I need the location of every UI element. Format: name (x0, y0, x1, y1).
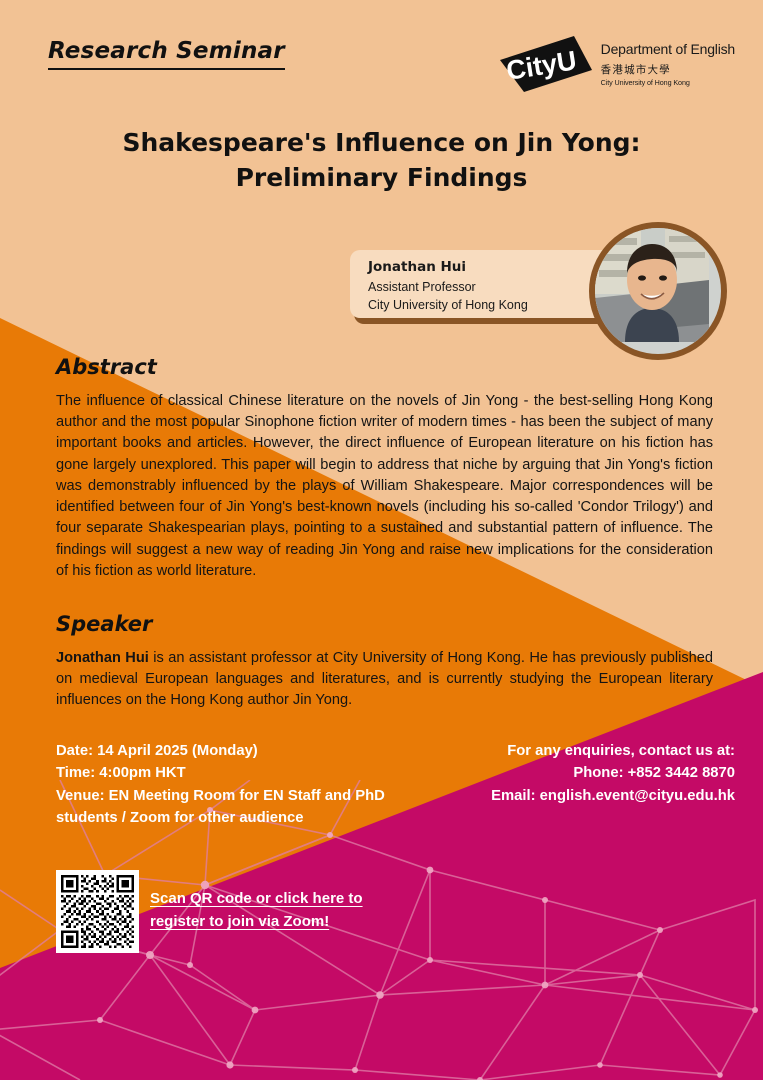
event-time: Time: 4:00pm HKT (56, 762, 386, 784)
speaker-heading: Speaker (56, 612, 152, 636)
title-line-2: Preliminary Findings (50, 161, 713, 196)
speaker-bio-name: Jonathan Hui (56, 650, 149, 666)
speaker-card-text: Jonathan Hui Assistant Professor City Un… (368, 258, 598, 314)
logo-english-name: City University of Hong Kong (601, 78, 735, 87)
registration-link[interactable]: Scan QR code or click here to register t… (150, 887, 410, 934)
qr-code[interactable] (56, 870, 139, 953)
logo-department-text: Department of English (601, 42, 735, 57)
title-line-1: Shakespeare's Influence on Jin Yong: (122, 128, 640, 157)
logo-chinese-name: 香港城市大學 (601, 62, 735, 77)
speaker-avatar (589, 222, 727, 360)
speaker-card-role: Assistant Professor (368, 278, 598, 296)
contact-email[interactable]: Email: english.event@cityu.edu.hk (405, 785, 735, 807)
research-seminar-kicker: Research Seminar (48, 38, 285, 70)
speaker-body: Jonathan Hui is an assistant professor a… (56, 648, 713, 712)
abstract-heading: Abstract (56, 355, 157, 379)
page-title: Shakespeare's Influence on Jin Yong: Pre… (50, 126, 713, 195)
cityu-logo-mark-icon: CityU (500, 36, 592, 92)
contact-phone: Phone: +852 3442 8870 (405, 762, 735, 784)
registration-link-line-2: register to join via Zoom! (150, 913, 329, 930)
event-venue: Venue: EN Meeting Room for EN Staff and … (56, 785, 386, 830)
contact-info: For any enquiries, contact us at: Phone:… (405, 740, 735, 807)
event-date: Date: 14 April 2025 (Monday) (56, 740, 386, 762)
speaker-card-name: Jonathan Hui (368, 258, 598, 278)
speaker-bio-text: is an assistant professor at City Univer… (56, 650, 713, 708)
svg-text:CityU: CityU (504, 45, 578, 86)
abstract-body: The influence of classical Chinese liter… (56, 391, 713, 582)
contact-intro: For any enquiries, contact us at: (405, 740, 735, 762)
registration-link-line-1: Scan QR code or click here to (150, 890, 363, 907)
speaker-card-organization: City University of Hong Kong (368, 296, 598, 314)
cityu-logo: CityU Department of English 香港城市大學 City … (500, 36, 735, 92)
seminar-poster: Research Seminar CityU Department of Eng… (0, 0, 763, 1080)
event-details: Date: 14 April 2025 (Monday) Time: 4:00p… (56, 740, 386, 830)
